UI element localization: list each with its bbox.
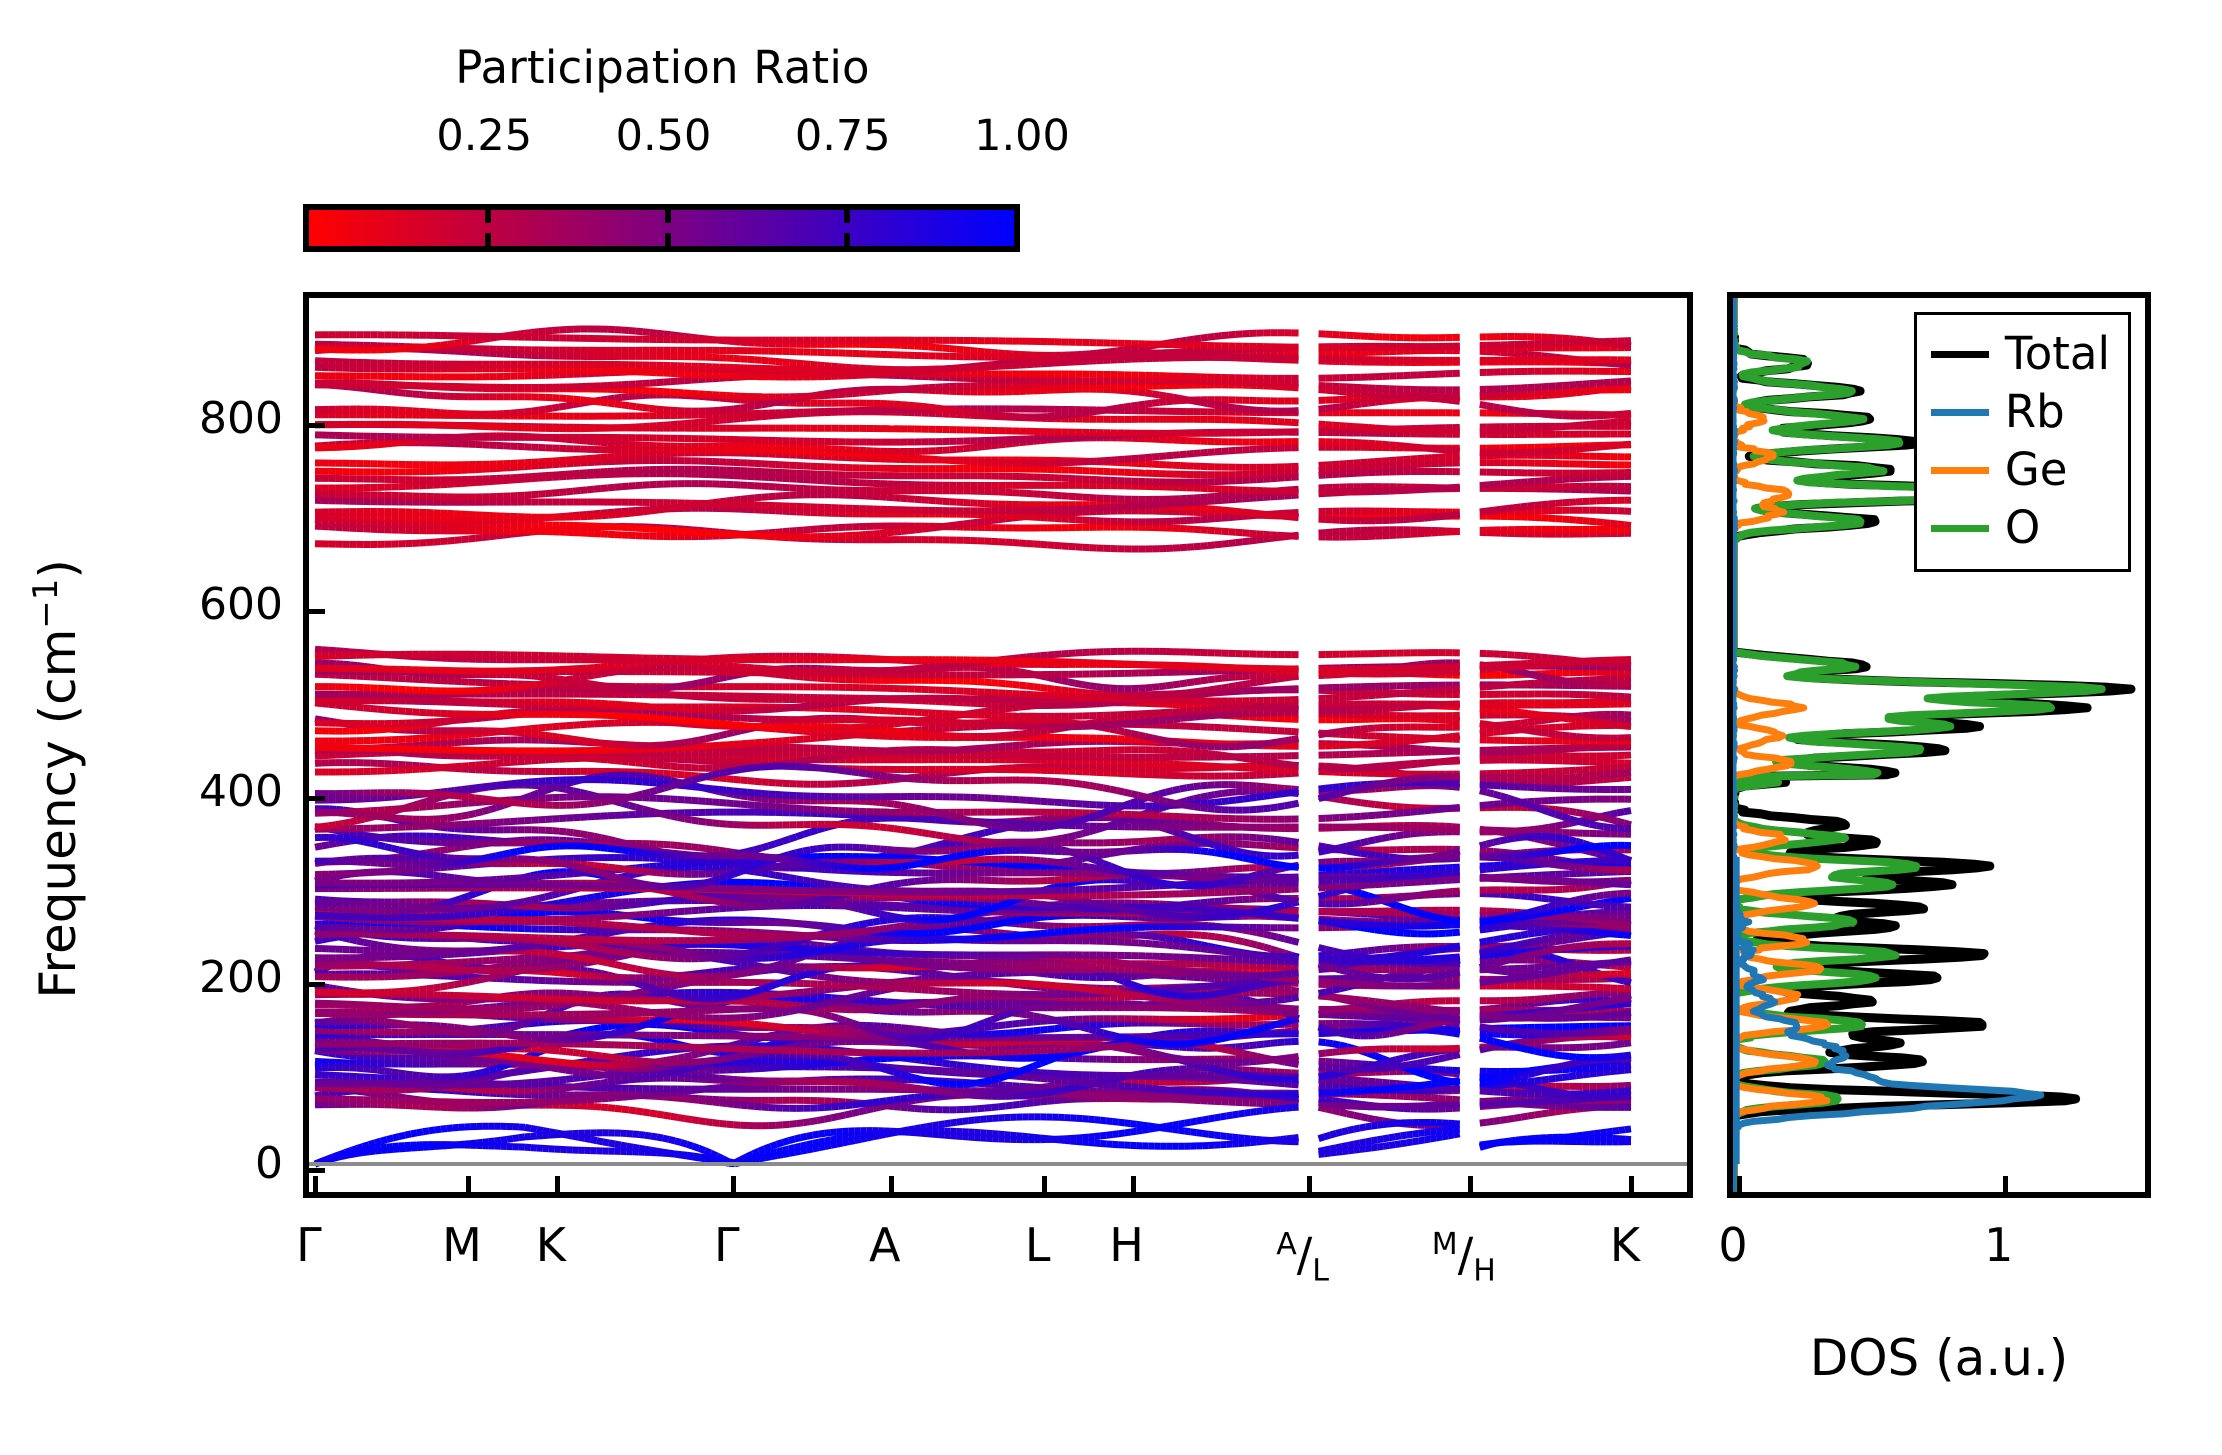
y-axis-label-main: Frequency (cm: [29, 629, 87, 999]
dos-axes: TotalRbGeO: [1727, 292, 2151, 1198]
colorbar-tick-label: 0.25: [436, 112, 532, 160]
dos-x-axis-tick-label: 0: [1718, 1220, 1747, 1270]
legend-color-swatch: [1931, 351, 1989, 358]
x-axis-tick-label: K: [1610, 1220, 1640, 1270]
y-axis-tick: [303, 609, 325, 614]
legend-entry: Ge: [1931, 441, 2110, 499]
x-axis-tick-label: Γ: [714, 1220, 740, 1270]
y-axis-tick-label: 600: [103, 581, 283, 629]
legend-label: O: [2005, 504, 2040, 552]
x-axis-tick: [1468, 1176, 1473, 1198]
x-axis-tick-label: A/L: [1276, 1220, 1329, 1297]
x-axis-tick-label: M: [442, 1220, 482, 1270]
x-axis-tick: [313, 1176, 318, 1198]
x-axis-tick-label: H: [1109, 1220, 1144, 1270]
legend-entry: Rb: [1931, 383, 2110, 441]
legend-entry: O: [1931, 499, 2110, 557]
colorbar-tick: [844, 233, 850, 246]
colorbar-tick: [485, 210, 491, 223]
zero-frequency-line: [309, 1162, 1687, 1166]
legend-color-swatch: [1931, 467, 1989, 474]
dos-x-axis-tick: [2003, 1176, 2008, 1198]
colorbar-tick: [665, 233, 671, 246]
colorbar-tick-label: 1.00: [974, 112, 1070, 160]
y-axis-tick: [303, 796, 325, 801]
x-axis-tick: [466, 1176, 471, 1198]
x-axis-tick-label: Γ: [296, 1220, 322, 1270]
x-axis-tick-label: A: [869, 1220, 900, 1270]
legend-color-swatch: [1931, 525, 1989, 532]
y-axis-tick: [303, 1168, 325, 1173]
legend-label: Rb: [2005, 388, 2065, 436]
x-axis-tick: [1629, 1176, 1634, 1198]
x-axis-tick: [1307, 1176, 1312, 1198]
colorbar-tick-labels: 0.250.500.751.00: [305, 112, 1020, 162]
y-axis-label-exponent: −1: [26, 579, 66, 629]
x-axis-tick: [731, 1176, 736, 1198]
x-axis-tick: [1131, 1176, 1136, 1198]
colorbar-tick-label: 0.50: [616, 112, 712, 160]
legend-label: Ge: [2005, 446, 2068, 494]
band-curves: [309, 298, 1687, 1192]
dos-legend: TotalRbGeO: [1914, 312, 2131, 572]
y-axis-tick: [303, 423, 325, 428]
y-axis-tick-label: 400: [103, 768, 283, 816]
y-axis-label-tail: ): [29, 559, 87, 579]
legend-entry: Total: [1931, 325, 2110, 383]
x-axis-tick-label: L: [1025, 1220, 1051, 1270]
y-axis-tick-label: 800: [103, 395, 283, 443]
y-axis-tick: [303, 982, 325, 987]
legend-color-swatch: [1931, 409, 1989, 416]
colorbar-title: Participation Ratio: [305, 42, 1020, 94]
y-axis-tick-label: 200: [103, 954, 283, 1002]
dos-axis-label: DOS (a.u.): [1727, 1330, 2151, 1386]
colorbar-tick: [485, 233, 491, 246]
x-axis-tick-label: M/H: [1432, 1220, 1496, 1297]
y-axis-label: Frequency (cm−1): [18, 459, 86, 1099]
y-axis-tick-label: 0: [103, 1140, 283, 1188]
legend-label: Total: [2005, 330, 2110, 378]
x-axis-tick-label: K: [536, 1220, 566, 1270]
x-axis-tick: [555, 1176, 560, 1198]
band-plot-area: [309, 298, 1687, 1192]
dos-x-axis-tick-label: 1: [1984, 1220, 2013, 1270]
x-axis-tick: [889, 1176, 894, 1198]
x-axis-tick: [1042, 1176, 1047, 1198]
colorbar-gradient: [309, 210, 1014, 246]
band-structure-axes: [303, 292, 1693, 1198]
colorbar-tick: [665, 210, 671, 223]
colorbar-tick-label: 0.75: [795, 112, 891, 160]
dos-x-axis-tick: [1737, 1176, 1742, 1198]
colorbar: [303, 204, 1020, 252]
colorbar-tick: [844, 210, 850, 223]
